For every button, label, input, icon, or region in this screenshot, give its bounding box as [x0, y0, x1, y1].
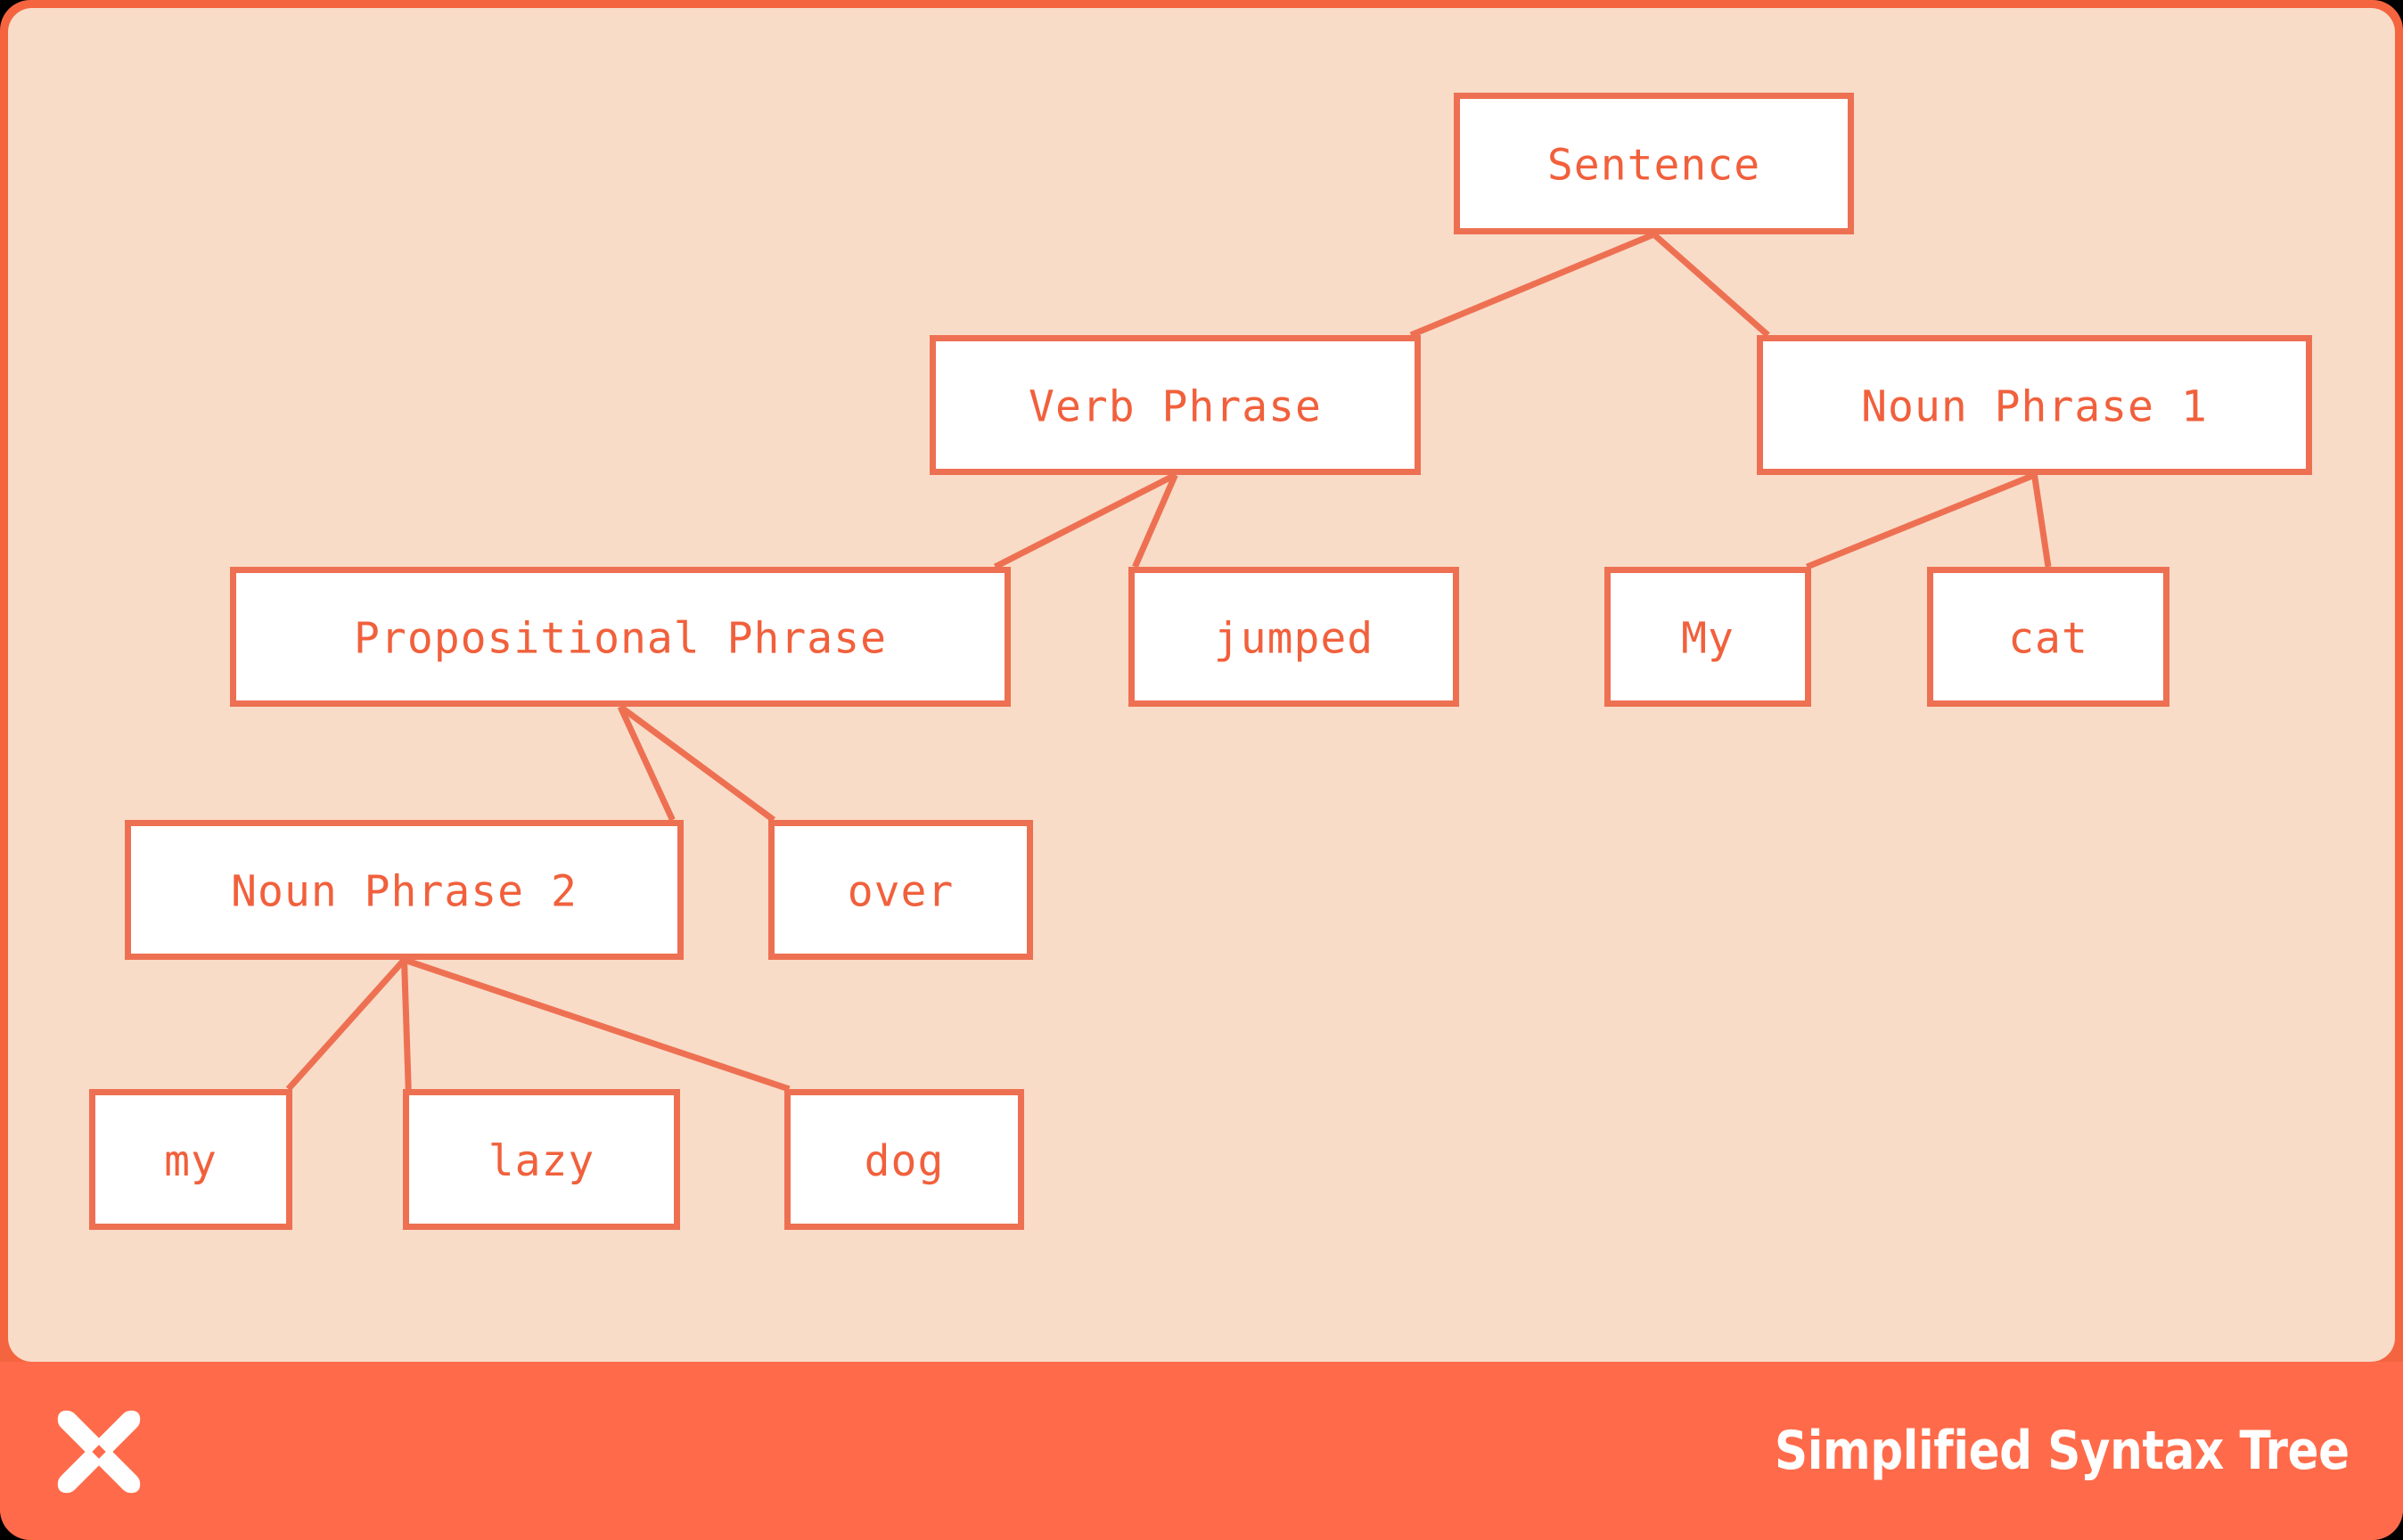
footer-title: Simplified Syntax Tree — [1775, 1406, 2350, 1495]
tree-node-label: cat — [2008, 614, 2088, 664]
tree-edge — [995, 475, 1175, 567]
nodes-layer: SentenceVerb PhraseNoun Phrase 1Proposit… — [93, 96, 2309, 1227]
tree-edge — [405, 960, 790, 1089]
tree-node-label: over — [848, 867, 955, 917]
tree-node-noun_phrase1[interactable]: Noun Phrase 1 — [1760, 339, 2309, 472]
tree-node-label: Noun Phrase 2 — [231, 867, 578, 917]
tree-node-label: my — [164, 1136, 217, 1186]
tree-edge — [405, 960, 409, 1089]
x-star-logo-icon — [50, 1403, 148, 1501]
tree-canvas: SentenceVerb PhraseNoun Phrase 1Proposit… — [8, 8, 2395, 1362]
tree-edge — [1135, 475, 1175, 567]
footer-bar: Simplified Syntax Tree — [0, 1362, 2403, 1540]
tree-node-verb_phrase[interactable]: Verb Phrase — [933, 339, 1418, 472]
tree-node-dog[interactable]: dog — [788, 1093, 1021, 1227]
syntax-tree-svg: SentenceVerb PhraseNoun Phrase 1Proposit… — [8, 8, 2395, 1362]
tree-edge — [1807, 475, 2034, 567]
tree-edge — [1411, 234, 1654, 335]
tree-node-my_word[interactable]: my — [93, 1093, 290, 1227]
tree-node-sentence[interactable]: Sentence — [1457, 96, 1851, 232]
tree-node-over[interactable]: over — [772, 823, 1030, 957]
tree-node-jumped[interactable]: jumped — [1132, 570, 1456, 704]
tree-node-label: Verb Phrase — [1029, 382, 1322, 432]
tree-edge — [2035, 475, 2049, 567]
tree-node-label: Propositional Phrase — [354, 614, 887, 664]
tree-node-label: Noun Phrase 1 — [1861, 382, 2208, 432]
tree-node-lazy[interactable]: lazy — [406, 1093, 677, 1227]
tree-node-label: jumped — [1214, 614, 1374, 664]
tree-node-label: Sentence — [1547, 141, 1760, 191]
tree-node-noun_phrase2[interactable]: Noun Phrase 2 — [128, 823, 681, 957]
tree-node-cat[interactable]: cat — [1931, 570, 2167, 704]
tree-node-label: dog — [865, 1136, 945, 1186]
tree-node-label: My — [1681, 614, 1735, 664]
tree-node-my_det[interactable]: My — [1608, 570, 1808, 704]
x-star-logo — [50, 1403, 148, 1501]
tree-node-prop_phrase[interactable]: Propositional Phrase — [234, 570, 1008, 704]
tree-edge — [1654, 234, 1768, 335]
diagram-card: SentenceVerb PhraseNoun Phrase 1Proposit… — [0, 0, 2403, 1540]
tree-node-label: lazy — [488, 1136, 595, 1186]
tree-edge — [288, 960, 404, 1089]
